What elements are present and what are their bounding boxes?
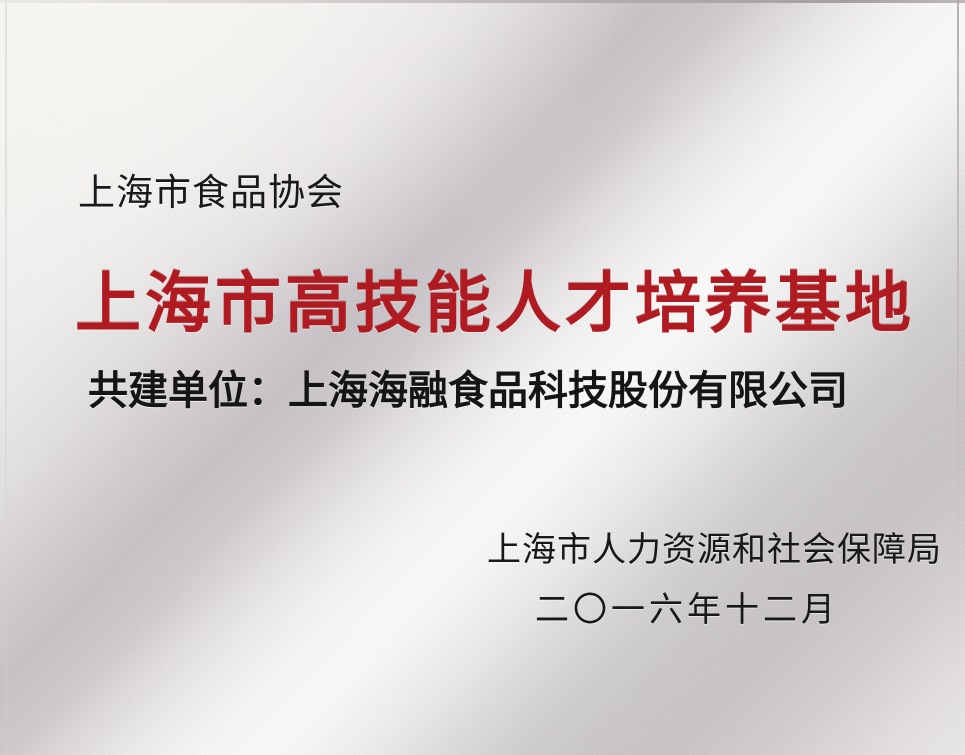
issuing-authority-block: 上海市人力资源和社会保障局 二〇一六年十二月 — [487, 522, 887, 631]
award-title: 上海市高技能人才培养基地 — [75, 250, 915, 346]
issuing-authority-name: 上海市人力资源和社会保障局 — [487, 522, 887, 571]
partner-organization-line: 共建单位：上海海融食品科技股份有限公司 — [88, 358, 848, 416]
plaque-content: 上海市食品协会 上海市高技能人才培养基地 共建单位：上海海融食品科技股份有限公司… — [0, 0, 965, 755]
award-plaque: 上海市食品协会 上海市高技能人才培养基地 共建单位：上海海融食品科技股份有限公司… — [0, 0, 965, 755]
association-name: 上海市食品协会 — [78, 162, 344, 216]
issue-date: 二〇一六年十二月 — [487, 582, 887, 631]
